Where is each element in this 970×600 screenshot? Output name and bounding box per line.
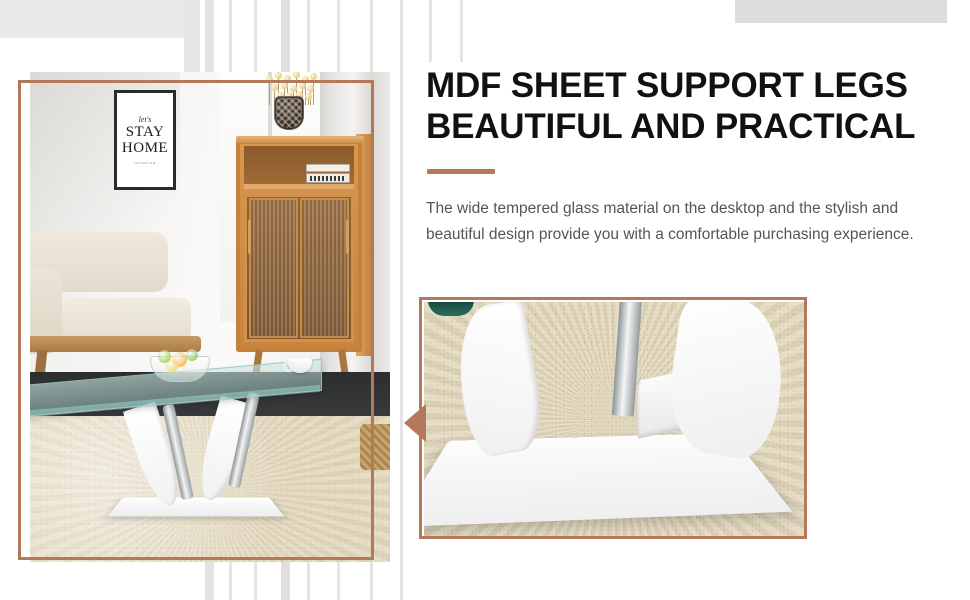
- bg-stripe: [0, 0, 186, 38]
- headline-line-1: MDF SHEET SUPPORT LEGS: [426, 66, 908, 105]
- flower-bud: [275, 72, 282, 79]
- flower-bud: [310, 73, 317, 80]
- body-text: The wide tempered glass material on the …: [426, 196, 931, 248]
- headline-line-2: BEAUTIFUL AND PRACTICAL: [426, 107, 915, 146]
- bg-stripe: [460, 0, 463, 62]
- right-photo-frame: [419, 297, 807, 539]
- headline: MDF SHEET SUPPORT LEGS BEAUTIFUL AND PRA…: [426, 66, 942, 147]
- text-column: MDF SHEET SUPPORT LEGS BEAUTIFUL AND PRA…: [426, 66, 942, 248]
- bg-stripe: [429, 0, 432, 62]
- flower-bud: [293, 72, 300, 78]
- pointer-arrow-icon: [404, 404, 426, 442]
- accent-divider: [427, 169, 495, 174]
- bg-stripe: [184, 0, 200, 74]
- marketing-banner: let's STAY HOME INTERIOR: [0, 0, 970, 600]
- left-photo-frame: [18, 80, 374, 560]
- bg-stripe: [400, 0, 403, 600]
- bg-block: [735, 0, 947, 23]
